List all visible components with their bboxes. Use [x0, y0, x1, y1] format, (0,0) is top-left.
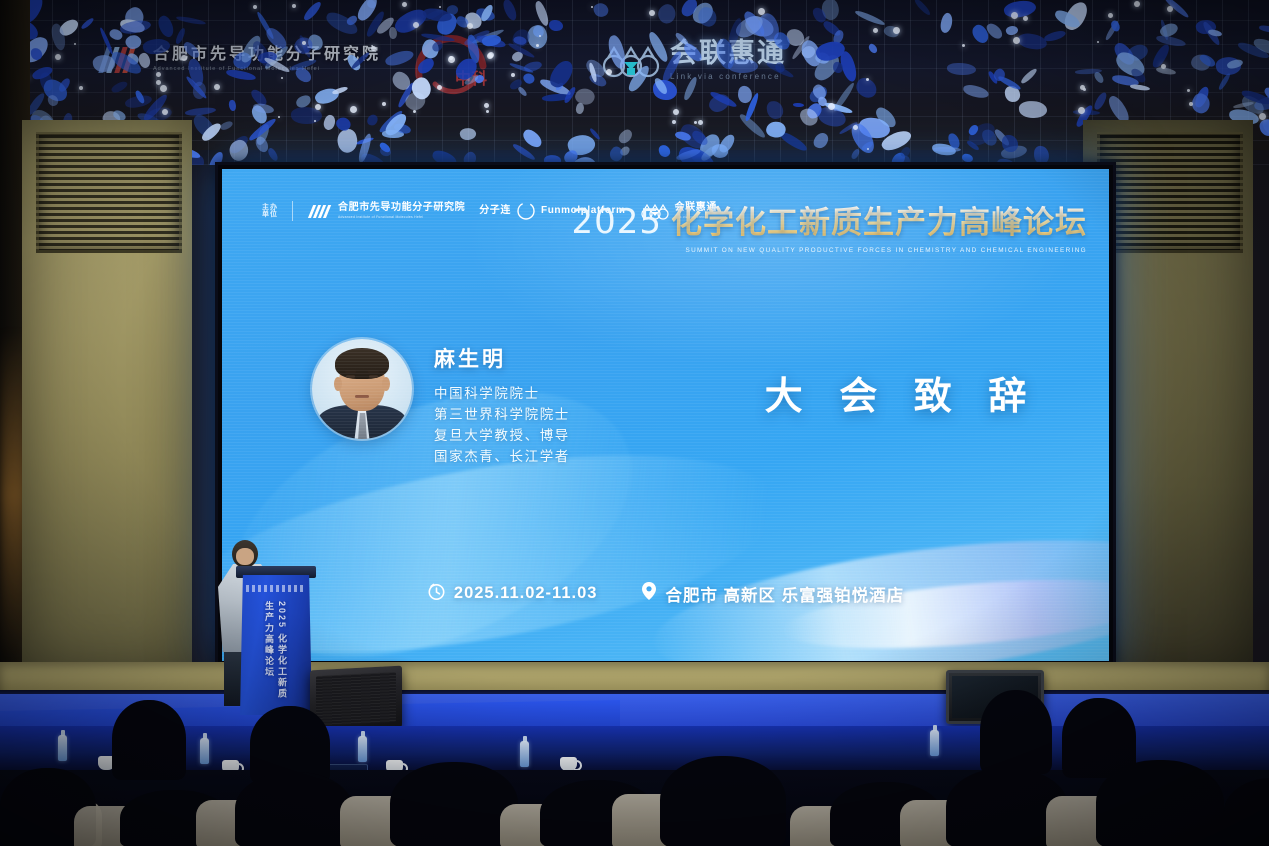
speaker-credential-3: 复旦大学教授、博导 — [434, 426, 570, 447]
organizer-label-line2: 单位 — [262, 211, 278, 218]
water-bottle — [930, 730, 939, 756]
attendee-silhouette — [390, 762, 518, 846]
sponsor-logo-institute: 合肥市先导功能分子研究院 Advanced Institute of Funct… — [307, 203, 465, 220]
venue-sign: 会联惠通 Link via conference — [600, 30, 860, 90]
portrait-mouth — [355, 395, 369, 398]
portrait-ear-left — [334, 377, 342, 391]
institute-banner: 合肥市先导功能分子研究院 Advanced Institute of Funct… — [96, 36, 396, 84]
water-bottle — [358, 736, 367, 762]
water-bottle — [58, 735, 67, 761]
portrait-brow-right — [368, 370, 379, 373]
speaker-block: 麻生明 中国科学院院士 第三世界科学院院士 复旦大学教授、博导 国家杰青、长江学… — [312, 339, 570, 468]
attendee-silhouette — [235, 772, 353, 846]
attendee-silhouette — [980, 690, 1052, 774]
podium-logo-strip — [246, 585, 306, 592]
podium-vertical-title: 2025 化学化工新质生产力高峰论坛 — [263, 601, 289, 709]
red-ring-logo-icon: 中科 — [405, 22, 509, 98]
location-pin-icon — [641, 581, 657, 606]
event-title-en: SUMMIT ON NEW QUALITY PRODUCTIVE FORCES … — [571, 247, 1087, 254]
water-bottle — [200, 738, 209, 764]
portrait-eye-left — [346, 375, 355, 378]
attendee-silhouette — [1096, 760, 1224, 846]
portrait-hair — [335, 348, 389, 379]
venue-sign-en: Link via conference — [670, 73, 786, 81]
portrait-eye-right — [369, 375, 378, 378]
institute-slash-logo-icon — [307, 203, 333, 220]
institute-banner-en: Advanced Institute of Functional Molecul… — [153, 67, 381, 73]
speaker-grille — [316, 672, 396, 726]
led-screen-content: 主办 单位 — [222, 169, 1109, 661]
speaker-portrait — [312, 339, 412, 439]
podium: 2025 化学化工新质生产力高峰论坛 — [240, 575, 312, 715]
sponsor-institute-cn: 合肥市先导功能分子研究院 — [338, 203, 465, 213]
event-title-cn: 化学化工新质生产力高峰论坛 — [671, 197, 1087, 242]
event-title-year: 2025 — [571, 202, 662, 242]
event-location-text: 合肥市 高新区 乐富强铂悦酒店 — [665, 582, 904, 606]
venue-sign-cn: 会联惠通 — [670, 40, 786, 67]
strip-divider — [292, 201, 293, 221]
event-date-text: 2025.11.02-11.03 — [454, 584, 598, 603]
institute-banner-cn: 合肥市先导功能分子研究院 — [153, 47, 381, 63]
sponsor-institute-en: Advanced Institute of Functional Molecul… — [338, 216, 465, 219]
funmol-circle-logo-icon — [516, 201, 536, 221]
water-bottle — [520, 741, 529, 767]
conference-photo: 合肥市先导功能分子研究院 Advanced Institute of Funct… — [0, 0, 1269, 846]
speaker-credential-4: 国家杰青、长江学者 — [434, 447, 570, 468]
attendee-silhouette — [112, 700, 186, 780]
session-headline: 大 会 致 辞 — [737, 365, 1067, 420]
event-location-item: 合肥市 高新区 乐富强铂悦酒店 — [641, 581, 904, 606]
institute-logo-icon — [96, 43, 144, 77]
presenter-face — [236, 548, 254, 565]
organizer-label: 主办 单位 — [262, 204, 278, 219]
speaker-credential-2: 第三世界科学院院士 — [434, 405, 570, 426]
clock-icon — [427, 582, 446, 606]
event-footer-info: 2025.11.02-11.03 合肥市 高新区 乐富强铂悦酒店 — [222, 581, 1109, 606]
event-date-item: 2025.11.02-11.03 — [427, 582, 598, 606]
led-screen-frame: 主办 单位 — [215, 162, 1116, 668]
portrait-brow-left — [345, 370, 356, 373]
conference-link-logo-icon — [600, 40, 662, 80]
attendee-silhouette — [660, 756, 786, 846]
sponsor-funmol-cn: 分子连 — [479, 206, 511, 216]
tea-cup — [560, 757, 577, 771]
svg-text:中科: 中科 — [455, 69, 487, 88]
left-vent-grille — [36, 132, 182, 253]
portrait-ear-right — [382, 377, 390, 391]
speaker-credential-1: 中国科学院院士 — [434, 384, 570, 405]
organizer-label-line1: 主办 — [262, 204, 278, 211]
left-wall-panel — [22, 120, 192, 680]
speaker-name: 麻生明 — [434, 343, 570, 373]
right-vent-grille — [1097, 132, 1243, 253]
event-title-block: 2025 化学化工新质生产力高峰论坛 SUMMIT ON NEW QUALITY… — [571, 197, 1087, 254]
